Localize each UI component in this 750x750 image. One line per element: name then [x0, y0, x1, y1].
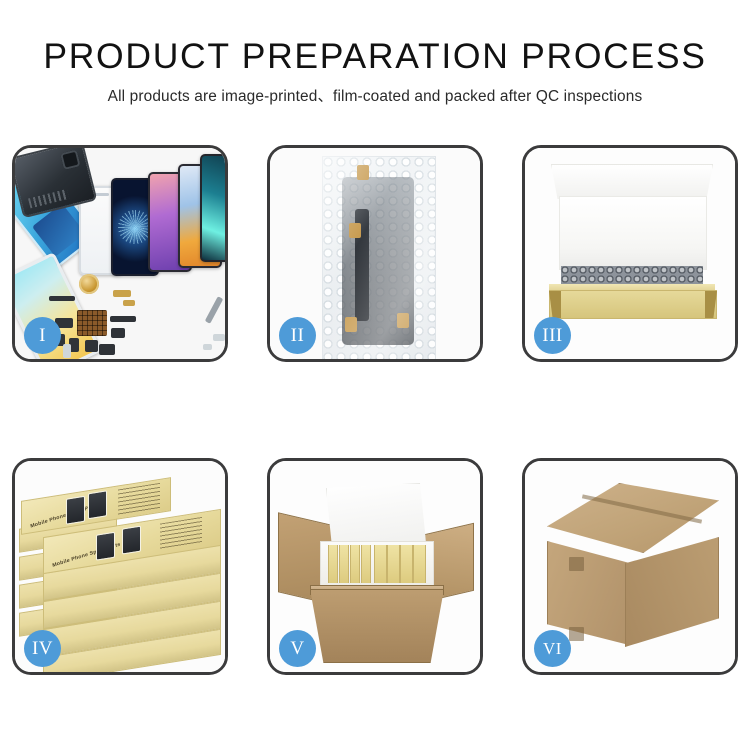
process-step-panel-2: II: [267, 145, 483, 362]
page-subtitle: All products are image-printed、film-coat…: [0, 75, 750, 106]
screw-icon: [213, 334, 225, 341]
carton-right-face-icon: [625, 537, 719, 647]
step-1-image: I: [15, 148, 225, 359]
spare-part-icon: [123, 300, 135, 306]
carton-tape-patch-icon: [569, 627, 584, 641]
spare-part-icon: [85, 340, 98, 352]
spare-part-icon: [110, 316, 136, 322]
page-header: PRODUCT PREPARATION PROCESS All products…: [0, 0, 750, 106]
carton-left-face-icon: [547, 541, 629, 645]
box-lid-back-icon: [551, 164, 713, 199]
step-badge: I: [24, 317, 61, 354]
spare-part-icon: [113, 290, 131, 297]
box-spec-text-block: [160, 517, 202, 550]
foam-box-lid-icon: [326, 483, 426, 547]
gold-contact-tab-icon: [349, 223, 361, 238]
box-artwork-phone-icon: [66, 496, 85, 525]
step-badge: V: [279, 630, 316, 667]
speaker-coil-icon: [79, 274, 99, 294]
process-step-grid: I II: [12, 145, 738, 675]
step-2-image: II: [270, 148, 480, 359]
yellow-boxes-group-icon: [326, 545, 426, 583]
spare-part-icon: [99, 344, 115, 355]
step-6-image: VI: [525, 461, 735, 672]
step-badge: VI: [534, 630, 571, 667]
gold-contact-tab-icon: [357, 165, 369, 180]
process-step-panel-6: VI: [522, 458, 738, 675]
box-artwork-phone-icon: [122, 526, 141, 555]
process-step-panel-5: V: [267, 458, 483, 675]
box-spec-text-block: [118, 483, 160, 516]
carton-body-icon: [310, 589, 444, 663]
spare-part-icon: [49, 296, 75, 301]
carton-tape-patch-icon: [569, 557, 584, 571]
step-4-image: Mobile Phone Spare Parts Mobile Phone Sp…: [15, 461, 225, 672]
gold-contact-tab-icon: [397, 313, 409, 328]
process-step-panel-3: III: [522, 145, 738, 362]
step-badge: IV: [24, 630, 61, 667]
gold-contact-tab-icon: [345, 317, 357, 332]
screw-icon: [203, 344, 212, 350]
spare-part-icon: [111, 328, 125, 338]
process-step-panel-4: Mobile Phone Spare Parts Mobile Phone Sp…: [12, 458, 228, 675]
box-artwork-phone-icon: [96, 532, 115, 561]
spare-part-icon: [63, 344, 71, 358]
teal-gradient-phone-icon: [200, 154, 225, 262]
step-badge: II: [279, 317, 316, 354]
bubble-wrap-bag-icon: [322, 156, 436, 359]
process-step-panel-1: I: [12, 145, 228, 362]
step-5-image: V: [270, 461, 480, 672]
logic-board-grid-icon: [77, 310, 107, 336]
page-title: PRODUCT PREPARATION PROCESS: [0, 0, 750, 75]
step-3-image: III: [525, 148, 735, 359]
step-badge: III: [534, 317, 571, 354]
white-foam-sheet-icon: [559, 196, 707, 270]
kraft-box-front-panel-icon: [549, 290, 717, 319]
box-artwork-phone-icon: [88, 490, 107, 519]
